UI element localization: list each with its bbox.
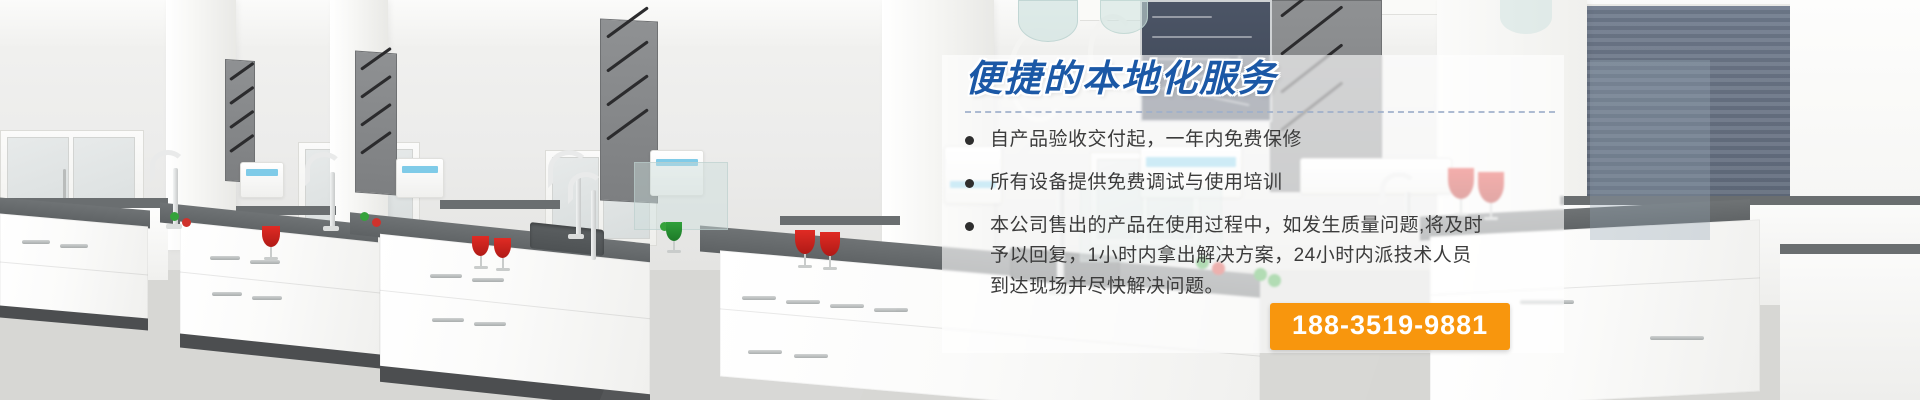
base-cabinet — [1780, 250, 1920, 400]
glassware — [820, 232, 840, 270]
list-item-line: 到达现场并尽快解决问题。 — [990, 272, 1565, 303]
list-item-line: 自产品验收交付起，一年内免费保修 — [990, 125, 1565, 156]
list-item: 所有设备提供免费调试与使用培训 — [965, 168, 1565, 199]
rack-peg — [360, 75, 392, 99]
title-divider — [965, 111, 1555, 113]
drying-rack — [355, 51, 397, 196]
drawer-pull — [432, 318, 464, 322]
drawer-pull — [252, 296, 282, 300]
glassware — [666, 222, 682, 252]
faucet-arc — [568, 172, 604, 204]
rack-peg — [229, 86, 254, 105]
promo-banner: 便捷的本地化服务 自产品验收交付起，一年内免费保修 所有设备提供免费调试与使用培… — [0, 0, 1920, 400]
faucet-base — [568, 234, 584, 239]
faucet-stem — [591, 190, 596, 260]
glass-stem — [673, 241, 675, 250]
list-item: 本公司售出的产品在使用过程中，如发生质量问题,将及时 予以回复，1小时内拿出解决… — [965, 211, 1565, 303]
list-item-line: 所有设备提供免费调试与使用培训 — [990, 168, 1565, 199]
glass-foot — [823, 267, 837, 270]
glass-foot — [264, 257, 278, 260]
glass-stem — [270, 247, 272, 257]
drawer-pull — [250, 260, 280, 264]
wall-dispenser — [396, 158, 444, 198]
rack-peg — [229, 110, 254, 129]
flask — [1500, 0, 1552, 34]
faucet-base — [323, 226, 339, 231]
drawer-pull — [472, 278, 504, 282]
rack-peg — [360, 103, 392, 127]
bullet-dot-icon — [965, 136, 974, 145]
rack-peg — [606, 74, 649, 106]
glass-foot — [496, 268, 510, 271]
valve-red — [372, 218, 381, 227]
counter — [780, 216, 900, 225]
faucet-base — [166, 224, 182, 229]
glassware — [262, 226, 280, 260]
rack-peg — [606, 108, 649, 140]
formula-line — [1152, 16, 1212, 18]
glass-stem — [804, 254, 806, 265]
glass-bowl — [494, 238, 511, 258]
glass-stem — [480, 256, 482, 266]
bullet-dot-icon — [965, 179, 974, 188]
glass-bowl — [795, 230, 815, 254]
glassware — [472, 236, 489, 269]
valve-red — [182, 218, 191, 227]
faucet-arc — [150, 150, 186, 182]
drawer-pull — [212, 292, 242, 296]
sheen — [596, 290, 904, 400]
glassware — [494, 238, 511, 271]
feature-list: 自产品验收交付起，一年内免费保修 所有设备提供免费调试与使用培训 本公司售出的产… — [965, 125, 1565, 303]
rack-peg — [229, 62, 254, 81]
glass-bowl — [262, 226, 280, 247]
flask — [1018, 0, 1078, 42]
page-title: 便捷的本地化服务 — [965, 60, 1565, 97]
glass-bowl — [472, 236, 489, 256]
list-item: 自产品验收交付起，一年内免费保修 — [965, 125, 1565, 156]
glass-foot — [798, 265, 812, 268]
dispenser-led — [246, 169, 278, 176]
glass-stem — [829, 256, 831, 267]
counter — [1780, 244, 1920, 254]
valve-green — [360, 212, 369, 221]
glass-foot — [667, 250, 681, 253]
drawer-pull — [430, 274, 462, 278]
rack-peg — [229, 134, 254, 153]
rack-peg — [360, 131, 392, 155]
wall-dispenser — [240, 162, 284, 198]
flask — [1100, 0, 1148, 34]
glass-shelf — [634, 162, 728, 230]
counter — [440, 200, 560, 209]
faucet-stem — [330, 172, 335, 228]
bullet-dot-icon — [965, 222, 974, 231]
glass-bowl — [666, 222, 682, 241]
valve-green — [170, 212, 179, 221]
drawer-pull — [22, 240, 50, 244]
drawer-pull — [474, 322, 506, 326]
drawer-pull — [1650, 336, 1704, 340]
phone-number-badge[interactable]: 188-3519-9881 — [1270, 303, 1510, 350]
faucet-arc — [305, 152, 343, 186]
promo-content: 便捷的本地化服务 自产品验收交付起，一年内免费保修 所有设备提供免费调试与使用培… — [965, 60, 1565, 350]
drawer-pull — [60, 244, 88, 248]
dispenser-led — [402, 166, 438, 173]
formula-line — [1152, 36, 1252, 38]
rack-peg — [606, 40, 649, 72]
glass-bowl — [820, 232, 840, 256]
list-item-line: 本公司售出的产品在使用过程中，如发生质量问题,将及时 — [990, 211, 1565, 242]
glass-partition — [1590, 60, 1710, 240]
drawer-pull — [210, 256, 240, 260]
glass-foot — [474, 266, 488, 269]
glass-stem — [502, 258, 504, 268]
list-item-line: 予以回复，1小时内拿出解决方案，24小时内派技术人员 — [990, 241, 1565, 272]
glassware — [795, 230, 815, 268]
